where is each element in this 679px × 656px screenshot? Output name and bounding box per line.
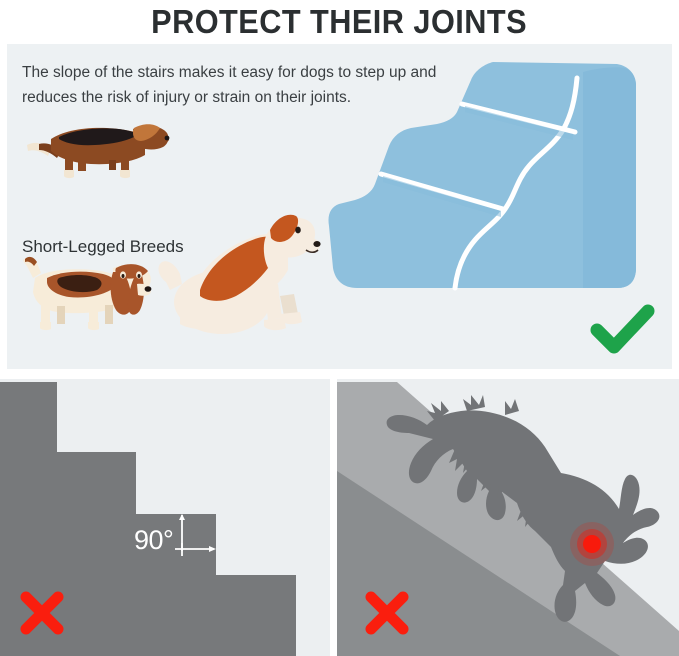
red-pain-point-marker bbox=[570, 522, 614, 566]
angle-label: 90° bbox=[134, 525, 173, 556]
basset-hound-dog-icon bbox=[17, 242, 157, 342]
blue-pet-stairs-illustration bbox=[325, 54, 670, 319]
label-short-legged-breeds: Short-Legged Breeds bbox=[22, 237, 184, 257]
page-title-text: PROTECT THEIR JOINTS bbox=[152, 3, 528, 41]
red-x-icon-right bbox=[363, 589, 411, 642]
top-info-panel: The slope of the stairs makes it easy fo… bbox=[7, 44, 672, 369]
green-check-icon bbox=[590, 303, 656, 355]
jack-russell-dog-icon bbox=[152, 210, 327, 340]
infographic-root: PROTECT THEIR JOINTS The slope of the st… bbox=[0, 0, 679, 656]
red-x-icon-left bbox=[18, 589, 66, 642]
page-title: PROTECT THEIR JOINTS bbox=[0, 0, 679, 44]
dachshund-dog-icon bbox=[21, 107, 171, 182]
